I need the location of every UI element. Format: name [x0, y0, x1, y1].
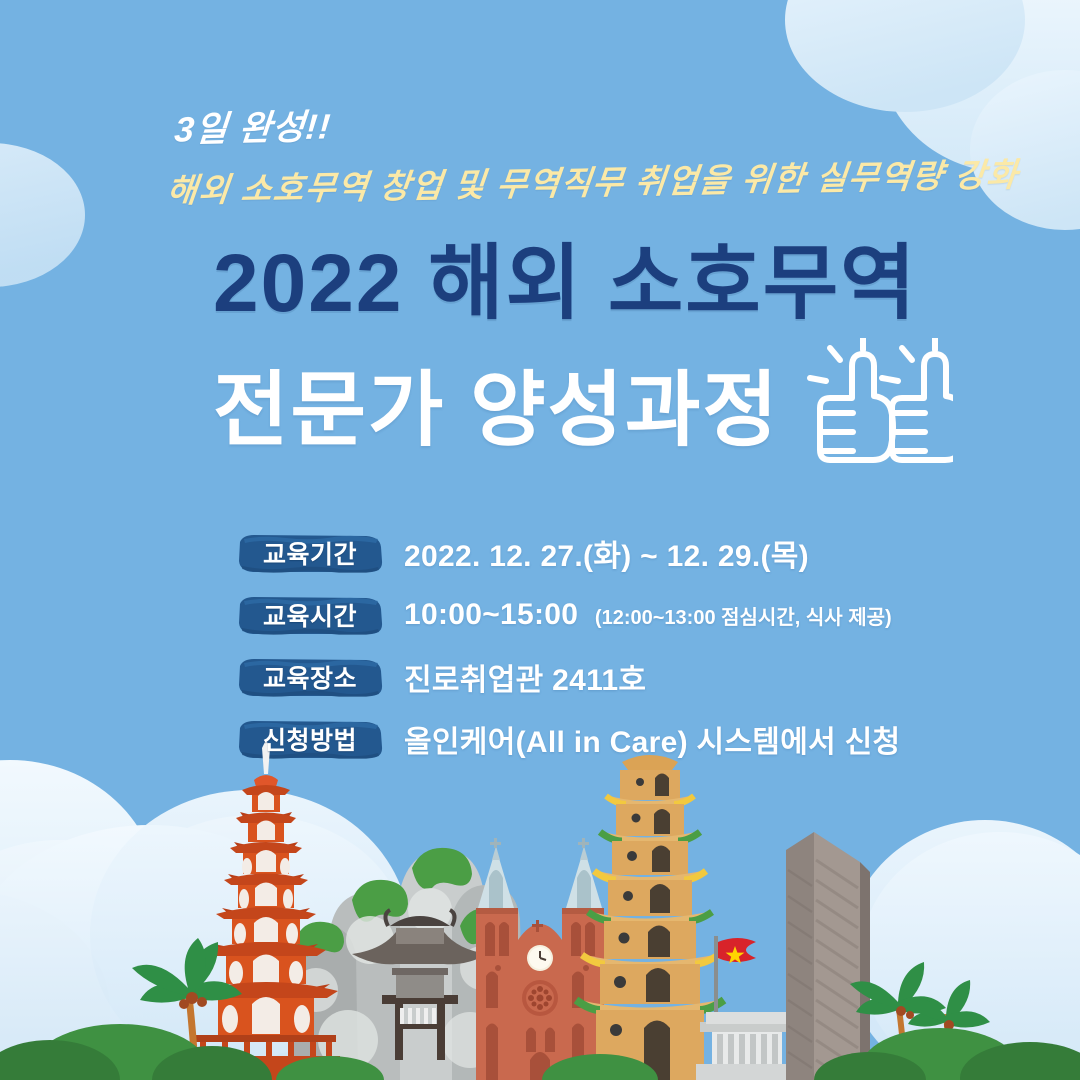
info-value-time-note: (12:00~13:00 점심시간, 식사 제공) — [595, 607, 892, 629]
kicker-text: 3일 완성!! — [173, 98, 334, 152]
vietnam-landmarks-skyline — [0, 740, 1080, 1080]
thumbs-up-icon — [778, 338, 953, 493]
title-line-1: 2022 해외 소호무역 — [213, 243, 918, 325]
info-value-period-text: 2022. 12. 27.(화) ~ 12. 29.(목) — [404, 540, 809, 573]
ho-chi-minh-mausoleum — [696, 1012, 798, 1080]
poster-canvas: 3일 완성!! 해외 소호무역 창업 및 무역직무 취업을 위한 실무역량 강화… — [0, 0, 1080, 1080]
title-line-2: 전문가 양성과정 — [213, 370, 780, 452]
info-row-time: 교육시간 10:00~15:00 (12:00~13:00 점심시간, 식사 제… — [236, 586, 1036, 644]
info-value-place: 진로취업관 2411호 — [404, 655, 646, 699]
badge-period: 교육기간 — [236, 533, 384, 573]
badge-label-period: 교육기간 — [263, 535, 357, 571]
badge-label-time: 교육시간 — [263, 597, 357, 633]
badge-label-place: 교육장소 — [263, 659, 357, 695]
subtitle-text: 해외 소호무역 창업 및 무역직무 취업을 위한 실무역량 강화 — [165, 148, 1022, 212]
badge-place: 교육장소 — [236, 657, 384, 697]
info-value-time-text: 10:00~15:00 — [404, 598, 578, 631]
info-value-time: 10:00~15:00 (12:00~13:00 점심시간, 식사 제공) — [404, 598, 892, 632]
info-value-place-text: 진로취업관 2411호 — [404, 664, 646, 697]
badge-label-apply: 신청방법 — [263, 721, 357, 757]
info-row-period: 교육기간 2022. 12. 27.(화) ~ 12. 29.(목) — [236, 524, 1036, 582]
badge-time: 교육시간 — [236, 595, 384, 635]
info-value-period: 2022. 12. 27.(화) ~ 12. 29.(목) — [404, 531, 809, 575]
info-list: 교육기간 2022. 12. 27.(화) ~ 12. 29.(목) 교 — [236, 524, 1036, 772]
skyscraper-tower — [786, 832, 870, 1080]
info-row-place: 교육장소 진로취업관 2411호 — [236, 648, 1036, 706]
